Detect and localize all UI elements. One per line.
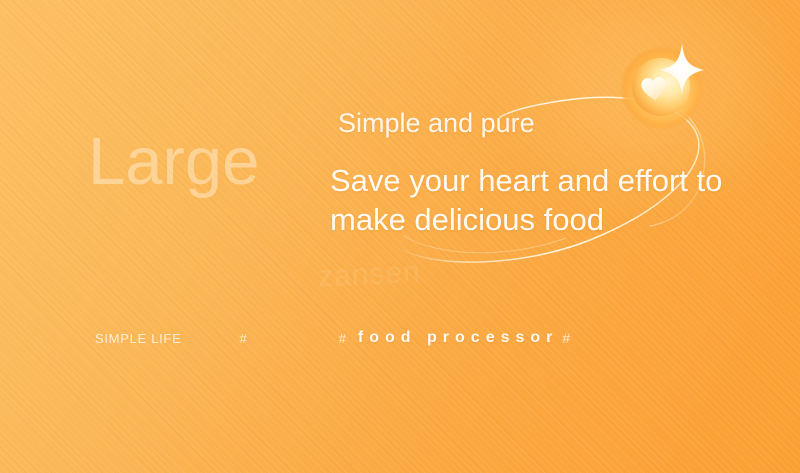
promo-banner: Large zansen Simple and pure Save your h	[0, 0, 800, 473]
tag-simple-life: SIMPLE LIFE	[95, 331, 181, 346]
tag-row: SIMPLE LIFE # # food processor #	[95, 329, 715, 347]
sparkle-icon	[658, 42, 706, 96]
hash-symbol-c: #	[562, 330, 570, 346]
tag-product-name: food processor	[358, 329, 558, 347]
headline: Save your heart and effort to make delic…	[330, 161, 760, 239]
headline-line-1: Save your heart and effort to	[330, 163, 722, 198]
hash-symbol-a: #	[239, 331, 246, 346]
background-watermark-word: Large	[88, 128, 259, 195]
heart-sparkle-icon	[622, 42, 708, 128]
center-watermark: zansen	[317, 255, 421, 294]
headline-line-2: make delicious food	[330, 202, 604, 237]
hash-symbol-b: #	[339, 331, 346, 346]
